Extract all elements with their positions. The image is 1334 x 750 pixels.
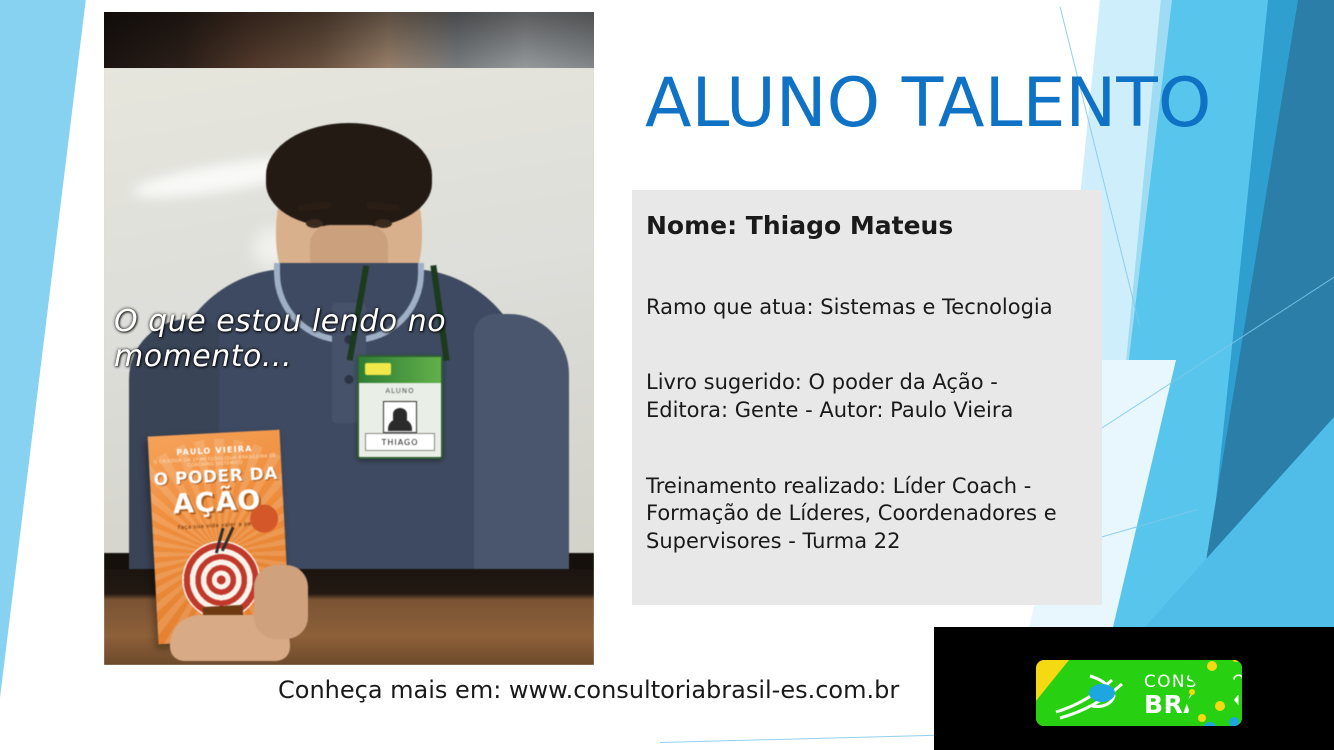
footer-website-text: Conheça mais em: www.consultoriabrasil-e… <box>278 676 899 704</box>
hair <box>266 123 432 227</box>
info-panel: Nome: Thiago Mateus Ramo que atua: Siste… <box>632 190 1102 605</box>
hairline-2 <box>1098 267 1334 431</box>
logo-splatter-icon <box>1176 660 1242 726</box>
student-name-line: Nome: Thiago Mateus <box>646 212 1088 240</box>
brazil-swoosh-icon <box>1050 666 1148 722</box>
badge-photo-frame <box>383 401 417 433</box>
badge-role-label: ALUNO <box>359 387 441 395</box>
book-seal-top <box>249 504 278 533</box>
slide-canvas: ALUNO THIAGO PAULO VIEIRA O CRIADOR DA 1… <box>0 0 1334 750</box>
training-line-3: Supervisores - Turma 22 <box>646 528 1088 556</box>
badge-name-label: THIAGO <box>365 433 435 451</box>
suggested-book-line-1: Livro sugerido: O poder da Ação - <box>646 369 1088 397</box>
page-title: ALUNO TALENTO <box>645 70 1285 138</box>
field-of-work-line: Ramo que atua: Sistemas e Tecnologia <box>646 294 1088 322</box>
training-line-1: Treinamento realizado: Líder Coach - <box>646 473 1088 501</box>
training-line-2: Formação de Líderes, Coordenadores e <box>646 500 1088 528</box>
logo-plate: CONSULTORIA BRASIL <box>1036 660 1242 726</box>
student-photo: ALUNO THIAGO PAULO VIEIRA O CRIADOR DA 1… <box>104 12 594 665</box>
suggested-book-line-2: Editora: Gente - Autor: Paulo Vieira <box>646 397 1088 425</box>
company-logo: CONSULTORIA BRASIL <box>934 627 1334 750</box>
person-silhouette-icon <box>393 408 407 420</box>
photo-caption-band <box>104 12 594 68</box>
photo-caption-text: O que estou lendo no momento... <box>114 304 594 374</box>
hand-side <box>254 565 308 639</box>
shirt-button-2 <box>345 375 354 384</box>
